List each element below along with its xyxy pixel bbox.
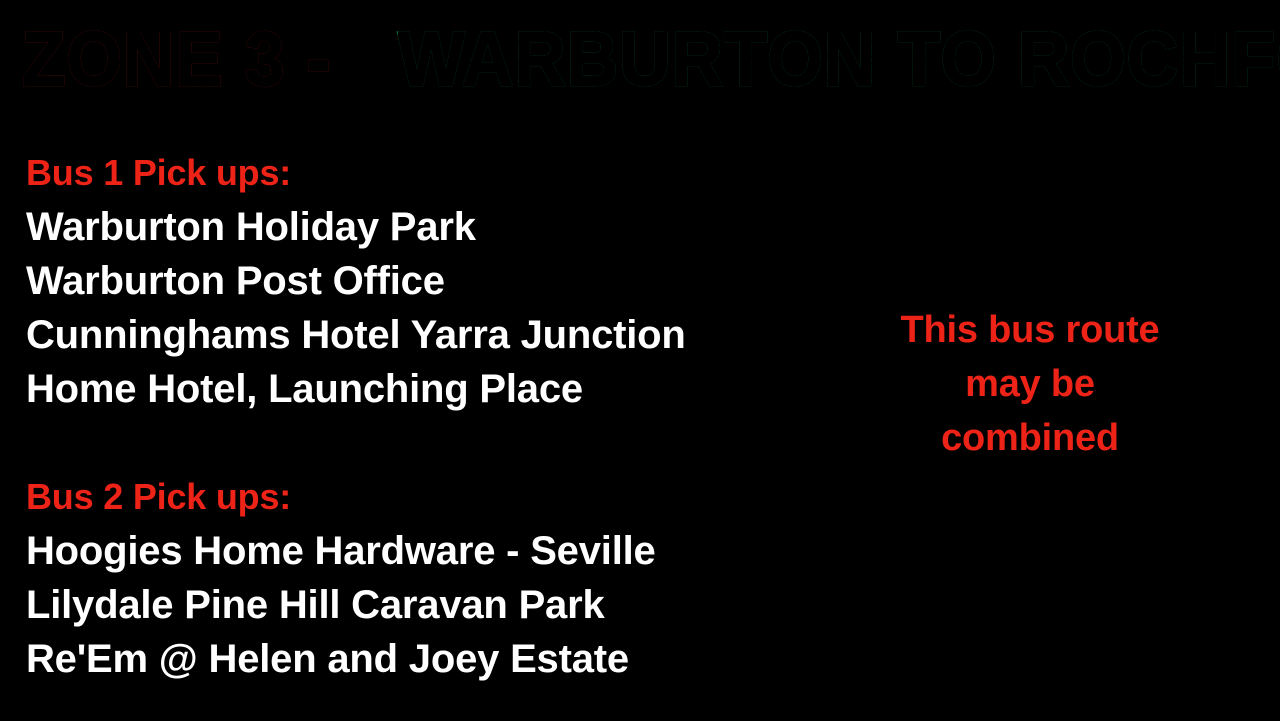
bus-2-heading: Bus 2 Pick ups: xyxy=(26,470,826,524)
route-note-line: combined xyxy=(880,411,1180,465)
route-note-line: This bus route xyxy=(880,303,1180,357)
list-item: Warburton Holiday Park xyxy=(26,200,826,254)
list-item: Warburton Post Office xyxy=(26,254,826,308)
bus-2-section: Bus 2 Pick ups: Hoogies Home Hardware - … xyxy=(26,470,826,686)
pickup-lists: Bus 1 Pick ups: Warburton Holiday Park W… xyxy=(26,146,826,686)
page-title-segment-red: ZONE 3 - xyxy=(22,14,332,106)
list-item: Re'Em @ Helen and Joey Estate xyxy=(26,632,826,686)
bus-1-section: Bus 1 Pick ups: Warburton Holiday Park W… xyxy=(26,146,826,416)
route-note-line: may be xyxy=(880,357,1180,411)
section-spacer xyxy=(26,416,826,470)
list-item: Hoogies Home Hardware - Seville xyxy=(26,524,826,578)
route-note: This bus route may be combined xyxy=(880,303,1180,465)
list-item: Lilydale Pine Hill Caravan Park xyxy=(26,578,826,632)
slide-canvas: ZONE 3 - WARBURTON TO ROCHFORD Bus 1 Pic… xyxy=(0,0,1280,721)
page-title-segment-green: WARBURTON TO ROCHFORD xyxy=(398,14,1280,106)
list-item: Home Hotel, Launching Place xyxy=(26,362,826,416)
list-item: Cunninghams Hotel Yarra Junction xyxy=(26,308,826,362)
bus-1-heading: Bus 1 Pick ups: xyxy=(26,146,826,200)
page-title: ZONE 3 - WARBURTON TO ROCHFORD xyxy=(22,14,1175,106)
